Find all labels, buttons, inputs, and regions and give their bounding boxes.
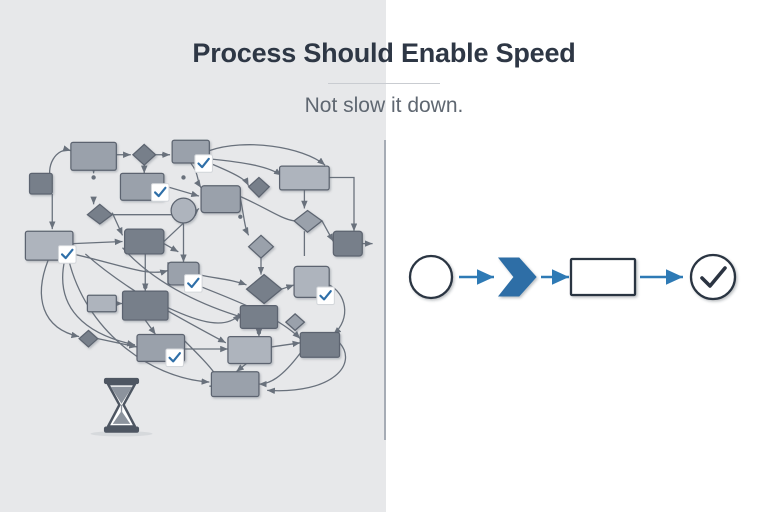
- process-node: [71, 142, 116, 170]
- decision-node: [249, 177, 270, 197]
- node-group: [25, 140, 362, 396]
- process-node: [228, 337, 271, 364]
- tangled-process-diagram: [14, 132, 384, 442]
- speed-chevron: [499, 258, 536, 296]
- approval-badge: [195, 155, 213, 173]
- decision-node: [247, 275, 282, 304]
- start-circle: [410, 256, 452, 298]
- approval-badge: [166, 349, 184, 367]
- decision-node: [79, 330, 98, 347]
- vertical-divider: [384, 140, 386, 440]
- process-node: [125, 229, 164, 254]
- process-node: [240, 306, 277, 329]
- tangled-diagram-svg: [14, 132, 384, 442]
- hourglass-icon: [91, 378, 153, 436]
- slide-header: Process Should Enable Speed Not slow it …: [0, 38, 768, 118]
- done-check-icon: [691, 255, 735, 299]
- process-node: [87, 295, 116, 312]
- page-title: Process Should Enable Speed: [0, 38, 768, 69]
- simple-diagram-svg: [395, 225, 725, 335]
- process-node: [280, 166, 330, 190]
- decision-node: [133, 144, 156, 165]
- decision-node: [286, 314, 305, 331]
- approval-badge: [58, 246, 76, 264]
- slide-root: Process Should Enable Speed Not slow it …: [0, 0, 768, 512]
- process-node: [30, 173, 53, 194]
- decision-node: [87, 204, 112, 224]
- process-node: [300, 332, 339, 357]
- connector-node: [171, 198, 196, 223]
- page-subtitle: Not slow it down.: [0, 94, 768, 118]
- decision-node: [294, 211, 322, 233]
- decision-node: [249, 235, 274, 258]
- title-divider-rule: [328, 83, 440, 84]
- approval-badge: [317, 287, 335, 305]
- process-node: [201, 186, 240, 213]
- approval-badge: [151, 184, 169, 202]
- process-box: [571, 259, 635, 295]
- process-node: [333, 231, 362, 256]
- process-node: [211, 372, 259, 397]
- simple-fast-process-diagram: [395, 225, 725, 335]
- approval-badge: [185, 275, 203, 293]
- process-node: [123, 291, 168, 320]
